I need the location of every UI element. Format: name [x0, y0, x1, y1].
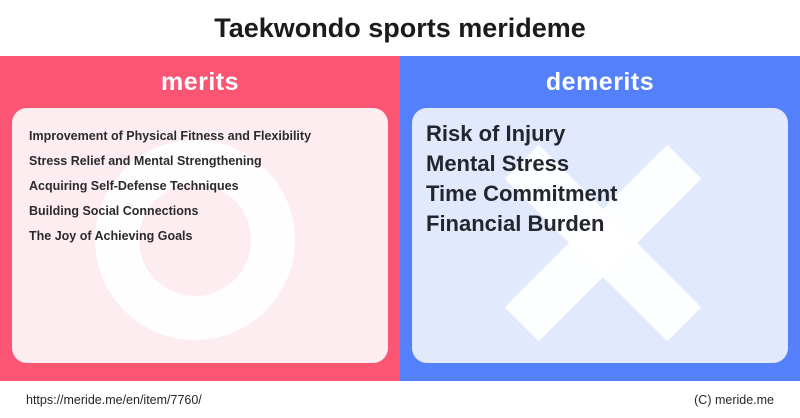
- page-title: Taekwondo sports merideme: [214, 13, 586, 44]
- merits-card: Improvement of Physical Fitness and Flex…: [12, 108, 388, 363]
- list-item: The Joy of Achieving Goals: [29, 224, 388, 249]
- list-item: Acquiring Self-Defense Techniques: [29, 174, 388, 199]
- source-url[interactable]: https://meride.me/en/item/7760/: [26, 393, 202, 407]
- demerits-card: Risk of Injury Mental Stress Time Commit…: [412, 108, 788, 363]
- demerits-list: Risk of Injury Mental Stress Time Commit…: [412, 108, 788, 239]
- list-item: Risk of Injury: [426, 119, 788, 149]
- list-item: Improvement of Physical Fitness and Flex…: [29, 124, 388, 149]
- demerits-heading: demerits: [400, 56, 800, 108]
- infographic-page: Taekwondo sports merideme merits Improve…: [0, 0, 800, 418]
- list-item: Time Commitment: [426, 179, 788, 209]
- title-bar: Taekwondo sports merideme: [0, 0, 800, 56]
- panels-container: merits Improvement of Physical Fitness a…: [0, 56, 800, 381]
- list-item: Building Social Connections: [29, 199, 388, 224]
- copyright-label: (C) meride.me: [694, 393, 774, 407]
- merits-list: Improvement of Physical Fitness and Flex…: [12, 108, 388, 249]
- merits-heading: merits: [0, 56, 400, 108]
- footer: https://meride.me/en/item/7760/ (C) meri…: [0, 381, 800, 418]
- merits-panel: merits Improvement of Physical Fitness a…: [0, 56, 400, 381]
- list-item: Stress Relief and Mental Strengthening: [29, 149, 388, 174]
- list-item: Mental Stress: [426, 149, 788, 179]
- list-item: Financial Burden: [426, 209, 788, 239]
- demerits-panel: demerits Risk of Injury Mental Stress Ti…: [400, 56, 800, 381]
